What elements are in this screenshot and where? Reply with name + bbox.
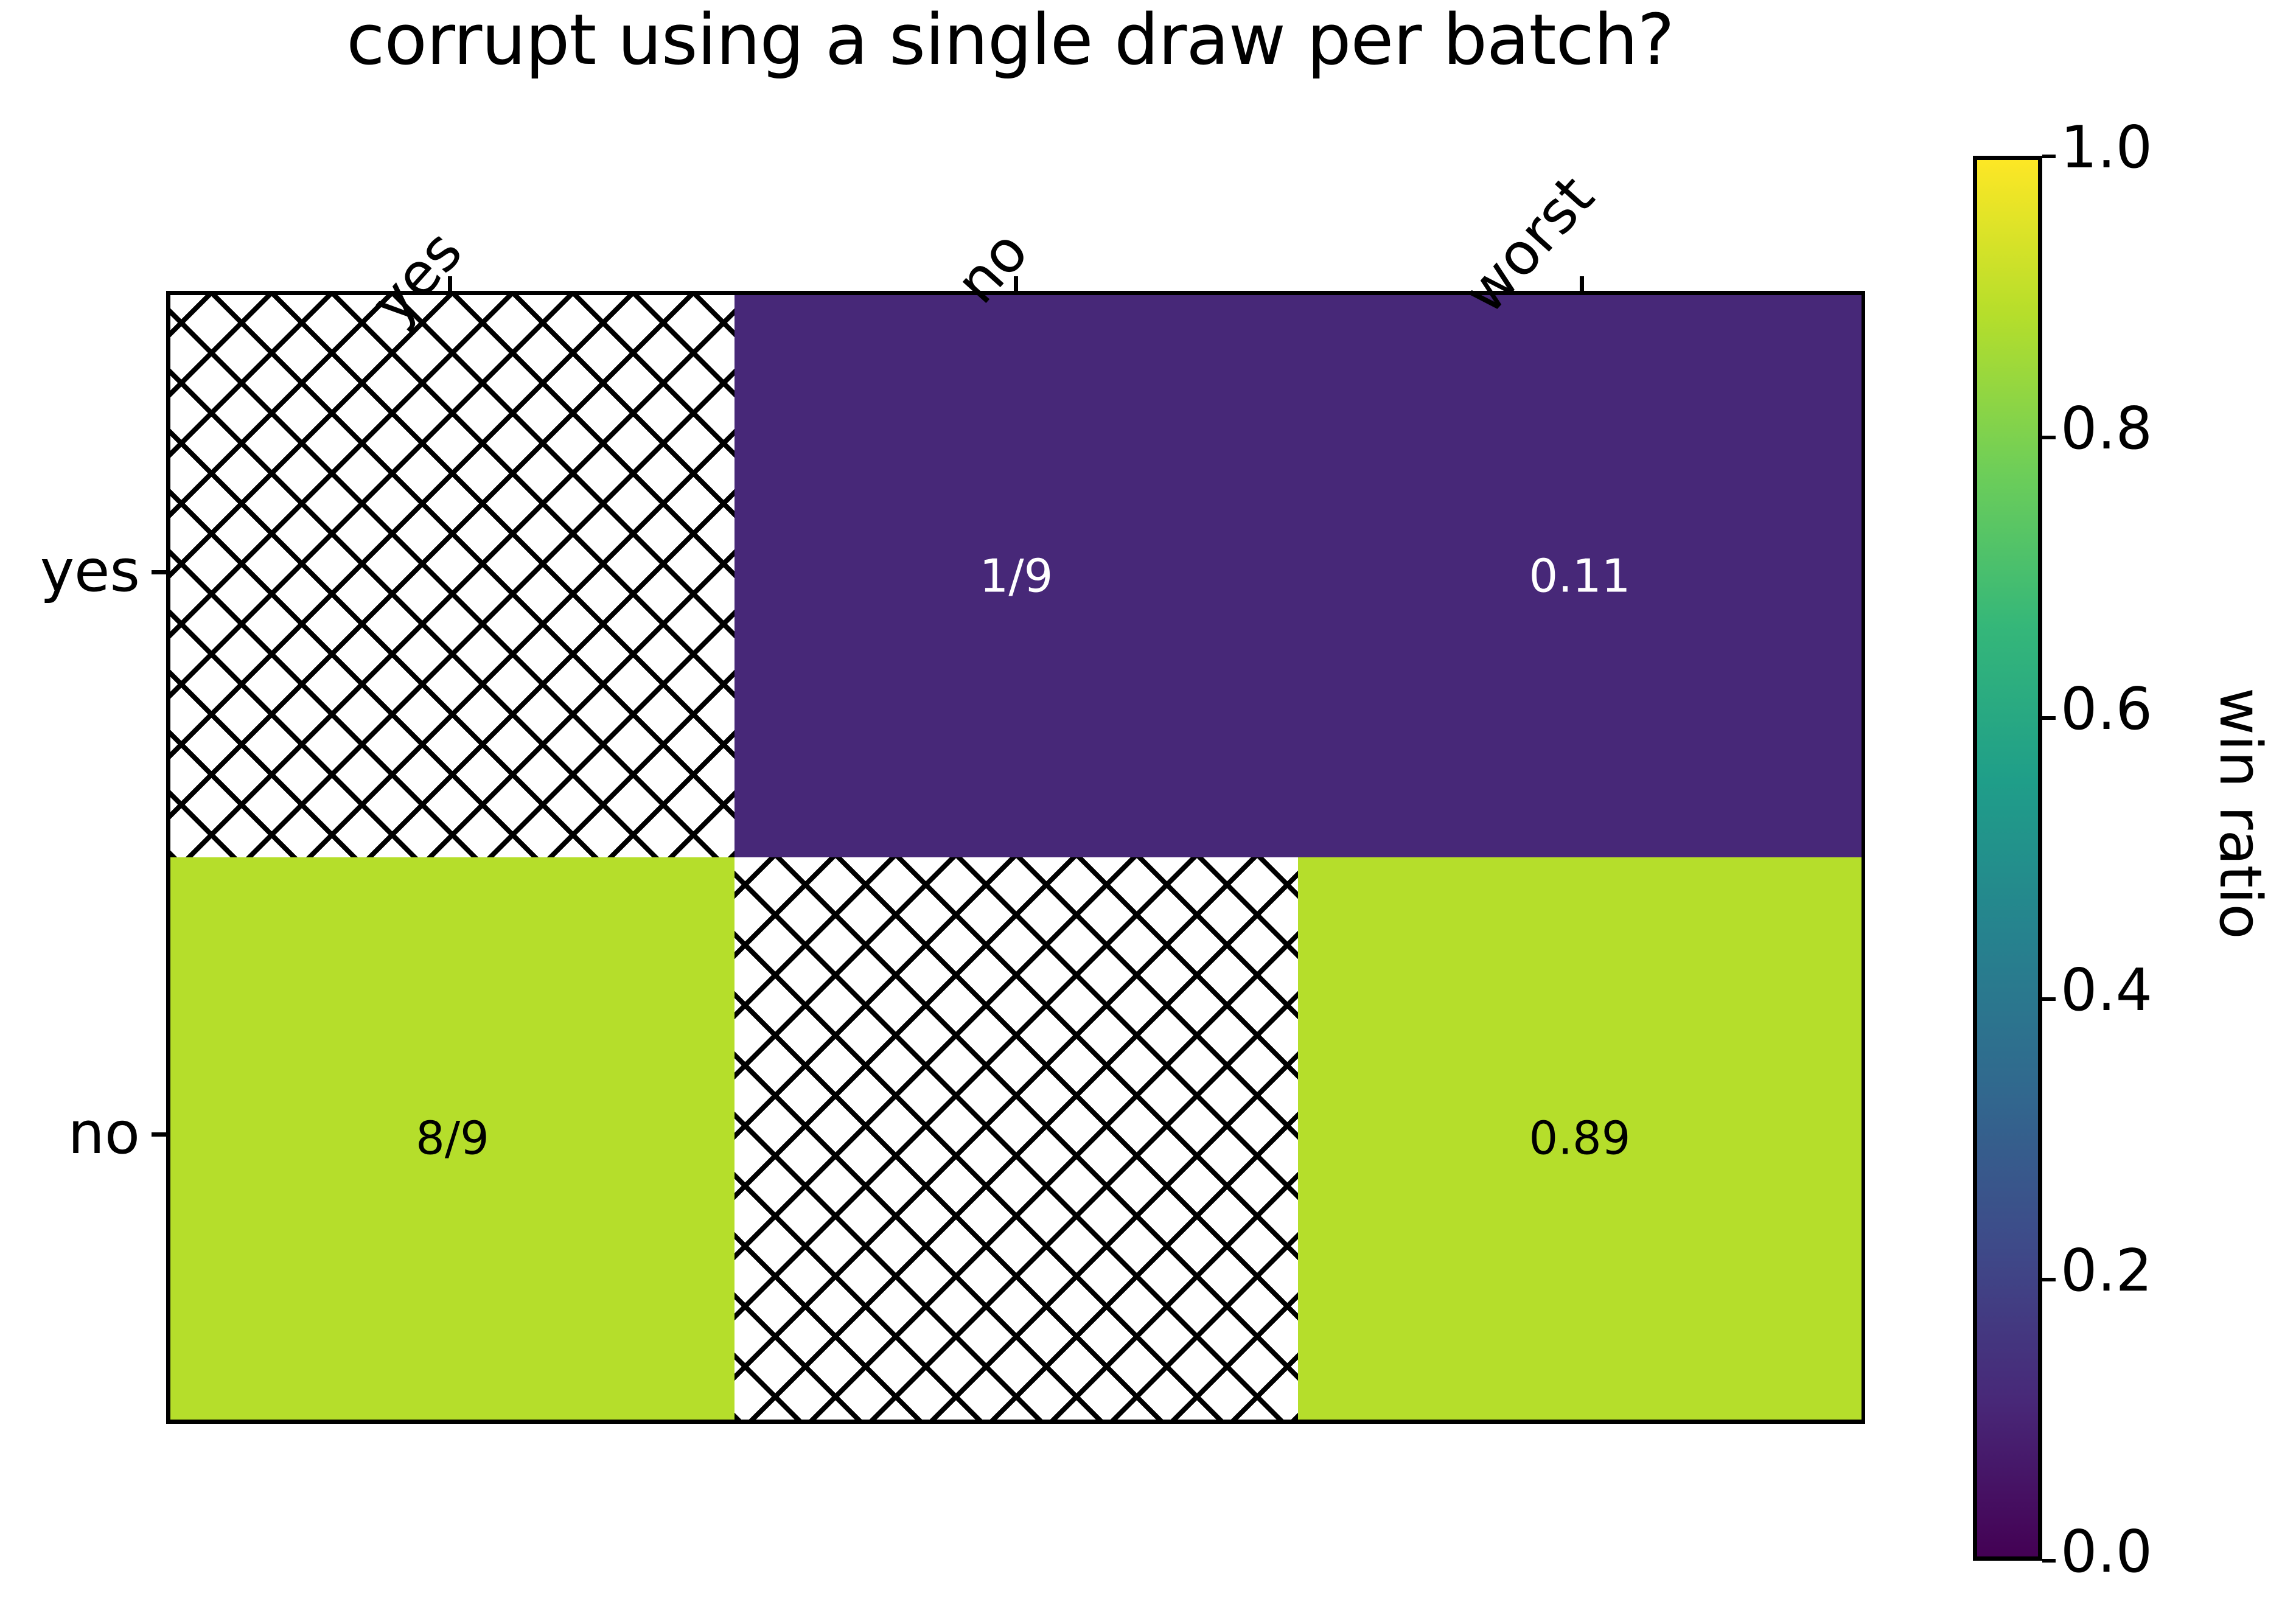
- colorbar-ticklabel-4: 0.8: [2060, 396, 2152, 462]
- colorbar-tick-4: [2042, 436, 2056, 439]
- heatmap-cell-no-yes: 8/9: [170, 857, 734, 1420]
- colorbar-ticklabel-1: 0.2: [2060, 1238, 2152, 1305]
- ytick-mark-no: [152, 1132, 166, 1137]
- heatmap-cell-yes-worst: 0.11: [1298, 295, 1862, 857]
- colorbar: [1973, 156, 2042, 1561]
- colorbar-ticklabel-2: 0.4: [2060, 957, 2152, 1024]
- colorbar-tick-0: [2042, 1559, 2056, 1563]
- ytick-label-yes: yes: [0, 538, 140, 605]
- page-title: corrupt using a single draw per batch?: [0, 4, 2020, 77]
- heatmap-cell-yes-no: 1/9: [734, 295, 1298, 857]
- xtick-mark-worst: [1580, 276, 1584, 291]
- heatmap-plot-area: 1/9 0.11 8/9 0.89: [166, 291, 1865, 1424]
- heatmap-cell-label: 8/9: [170, 1116, 734, 1162]
- ytick-mark-yes: [152, 570, 166, 574]
- ytick-label-no: no: [0, 1100, 140, 1167]
- colorbar-tick-1: [2042, 1278, 2056, 1281]
- heatmap-cell-no-no: [734, 857, 1298, 1420]
- heatmap-cell-yes-yes: [170, 295, 734, 857]
- heatmap-figure: corrupt using a single draw per batch? 1…: [0, 0, 2282, 1624]
- colorbar-ticklabel-5: 1.0: [2060, 114, 2152, 181]
- colorbar-tick-2: [2042, 997, 2056, 1001]
- heatmap-cell-label: 1/9: [734, 554, 1298, 599]
- colorbar-tick-3: [2042, 716, 2056, 720]
- colorbar-tick-5: [2042, 155, 2056, 158]
- colorbar-ticklabel-3: 0.6: [2060, 676, 2152, 743]
- colorbar-ticklabel-0: 0.0: [2060, 1519, 2152, 1586]
- colorbar-gradient: [1977, 160, 2038, 1556]
- heatmap-cell-no-worst: 0.89: [1298, 857, 1862, 1420]
- colorbar-axis-label: win ratio: [2207, 688, 2273, 939]
- heatmap-cell-label: 0.89: [1298, 1116, 1862, 1162]
- heatmap-cell-label: 0.11: [1298, 554, 1862, 599]
